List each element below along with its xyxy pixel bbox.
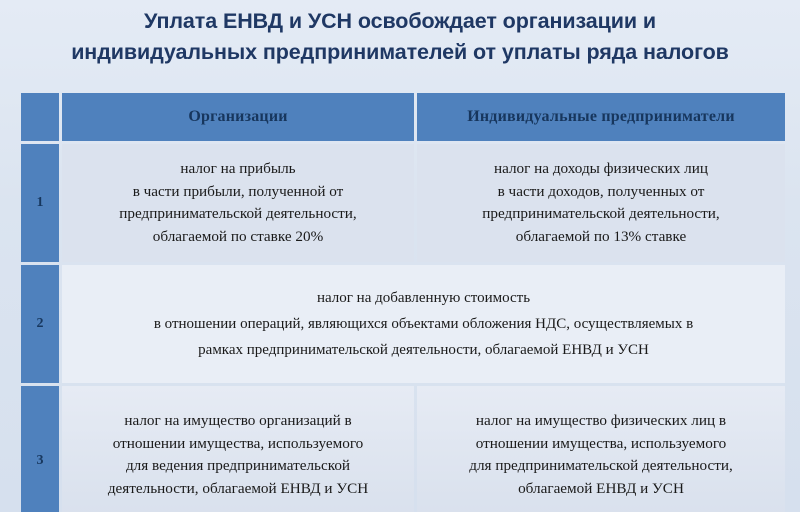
page-title: Уплата ЕНВД и УСН освобождает организаци…: [0, 0, 800, 68]
table-row: 1 налог на прибыль в части прибыли, полу…: [21, 144, 785, 262]
cell-row1-org-line4: облагаемой по ставке 20%: [62, 226, 414, 249]
cell-row1-organizations: налог на прибыль в части прибыли, получе…: [62, 144, 414, 262]
row-number-2: 2: [21, 265, 59, 383]
cell-row3-organizations: налог на имущество организаций в отношен…: [62, 386, 414, 512]
cell-row1-ip-line3: предпринимательской деятельности,: [417, 203, 785, 226]
header-cell-number: [21, 93, 59, 141]
cell-row1-ip-line2: в части доходов, полученных от: [417, 181, 785, 204]
cell-row3-org-line3: для ведения предпринимательской: [62, 455, 414, 478]
table-header-row: Организации Индивидуальные предпринимате…: [21, 93, 785, 141]
table-row: 2 налог на добавленную стоимость в отнош…: [21, 265, 785, 383]
cell-row2-merged: налог на добавленную стоимость в отношен…: [62, 265, 785, 383]
cell-row3-ip-line4: облагаемой ЕНВД и УСН: [417, 478, 785, 501]
cell-row1-entrepreneurs: налог на доходы физических лиц в части д…: [417, 144, 785, 262]
cell-row3-ip-line2: отношении имущества, используемого: [417, 433, 785, 456]
cell-row1-org-line2: в части прибыли, полученной от: [62, 181, 414, 204]
cell-row1-org-line3: предпринимательской деятельности,: [62, 203, 414, 226]
cell-row2-line2: в отношении операций, являющихся объекта…: [62, 311, 785, 337]
slide-canvas: Уплата ЕНВД и УСН освобождает организаци…: [0, 0, 800, 512]
cell-row1-org-line1: налог на прибыль: [62, 158, 414, 181]
cell-row2-line3: рамках предпринимательской деятельности,…: [62, 337, 785, 363]
cell-row3-ip-line3: для предпринимательской деятельности,: [417, 455, 785, 478]
cell-row1-ip-line1: налог на доходы физических лиц: [417, 158, 785, 181]
row-number-3: 3: [21, 386, 59, 512]
cell-row3-entrepreneurs: налог на имущество физических лиц в отно…: [417, 386, 785, 512]
header-cell-organizations: Организации: [62, 93, 414, 141]
cell-row1-ip-line4: облагаемой по 13% ставке: [417, 226, 785, 249]
cell-row3-org-line2: отношении имущества, используемого: [62, 433, 414, 456]
cell-row3-org-line1: налог на имущество организаций в: [62, 410, 414, 433]
cell-row2-line1: налог на добавленную стоимость: [62, 285, 785, 311]
cell-row3-ip-line1: налог на имущество физических лиц в: [417, 410, 785, 433]
cell-row3-org-line4: деятельности, облагаемой ЕНВД и УСН: [62, 478, 414, 501]
header-cell-entrepreneurs: Индивидуальные предприниматели: [417, 93, 785, 141]
title-line-1: Уплата ЕНВД и УСН освобождает организаци…: [0, 6, 800, 37]
title-line-2: индивидуальных предпринимателей от уплат…: [0, 37, 800, 68]
row-number-1: 1: [21, 144, 59, 262]
tax-exemption-table: Организации Индивидуальные предпринимате…: [18, 90, 788, 512]
table-row: 3 налог на имущество организаций в отнош…: [21, 386, 785, 512]
tax-exemption-table-wrapper: Организации Индивидуальные предпринимате…: [18, 90, 782, 512]
